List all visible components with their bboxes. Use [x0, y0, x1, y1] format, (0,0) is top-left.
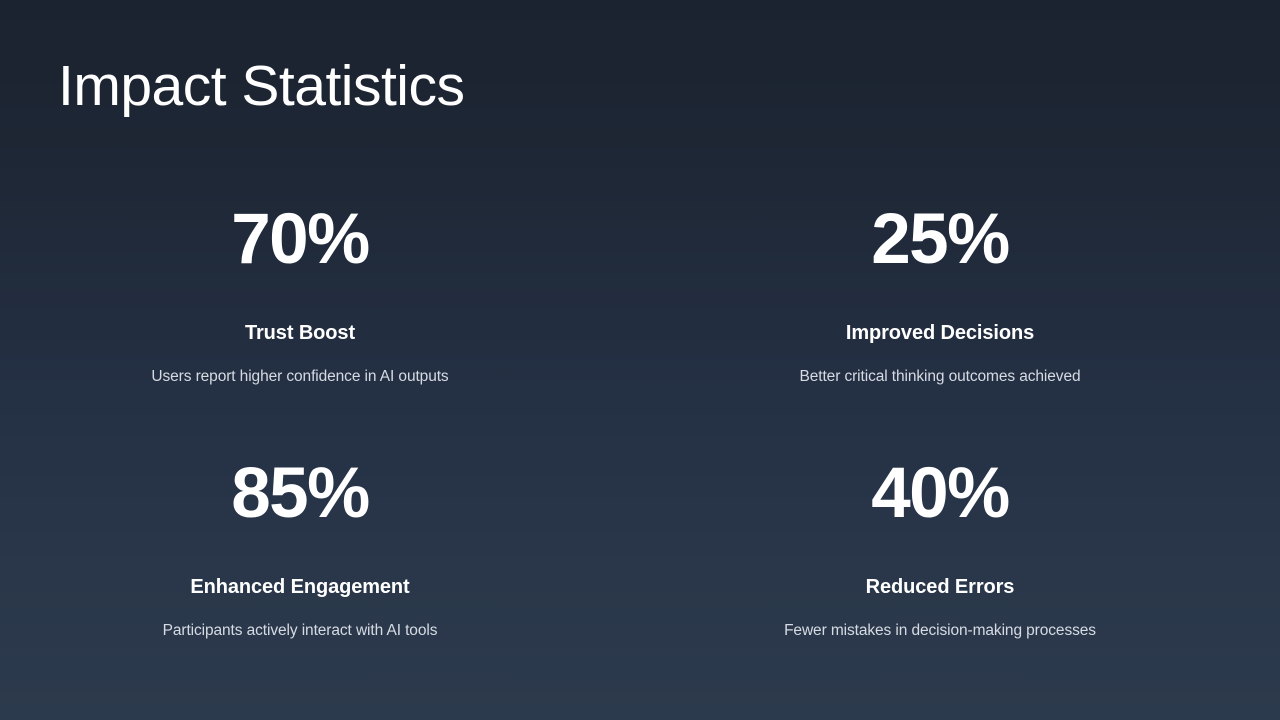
stat-value: 70%: [231, 204, 369, 275]
stat-label: Enhanced Engagement: [190, 576, 409, 599]
stat-value: 40%: [871, 458, 1009, 529]
stat-card-improved-decisions: 25% Improved Decisions Better critical t…: [640, 180, 1280, 434]
stat-description: Users report higher confidence in AI out…: [151, 368, 448, 386]
stat-label: Improved Decisions: [846, 322, 1034, 345]
stat-description: Fewer mistakes in decision-making proces…: [784, 622, 1096, 640]
page-title: Impact Statistics: [58, 54, 464, 120]
stat-card-reduced-errors: 40% Reduced Errors Fewer mistakes in dec…: [640, 434, 1280, 688]
stat-value: 25%: [871, 204, 1009, 275]
impact-statistics-slide: Impact Statistics 70% Trust Boost Users …: [0, 0, 1280, 720]
stat-label: Reduced Errors: [866, 576, 1015, 599]
stat-card-trust-boost: 70% Trust Boost Users report higher conf…: [0, 180, 640, 434]
stat-card-enhanced-engagement: 85% Enhanced Engagement Participants act…: [0, 434, 640, 688]
stat-description: Better critical thinking outcomes achiev…: [800, 368, 1081, 386]
stat-value: 85%: [231, 458, 369, 529]
statistics-grid: 70% Trust Boost Users report higher conf…: [0, 180, 1280, 688]
stat-description: Participants actively interact with AI t…: [163, 622, 438, 640]
stat-label: Trust Boost: [245, 322, 355, 345]
